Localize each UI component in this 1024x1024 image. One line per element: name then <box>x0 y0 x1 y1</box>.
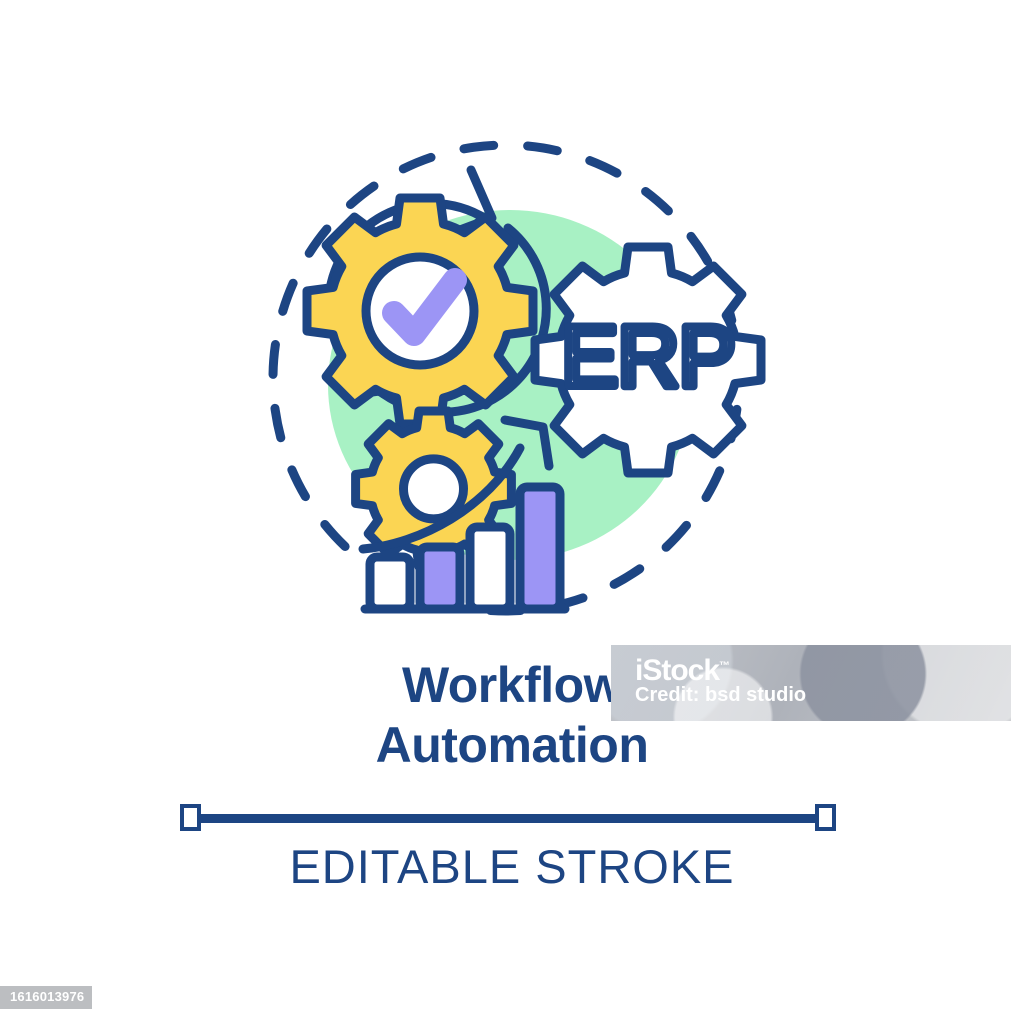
bar-chart <box>365 487 565 609</box>
check-gear <box>307 198 533 424</box>
istock-watermark: iStock™ Credit: bsd studio <box>611 645 1011 721</box>
editable-stroke-caption: EDITABLE STROKE <box>0 838 1024 896</box>
check-gear-hub <box>366 257 474 365</box>
small-gear-hub <box>404 459 464 519</box>
stroke-handle-left-icon[interactable] <box>180 804 201 831</box>
check-icon-outline <box>394 280 455 334</box>
page-title-line-2: Automation <box>0 715 1024 775</box>
check-icon <box>394 280 455 334</box>
bar-4 <box>520 487 560 609</box>
small-gear-body <box>356 411 512 567</box>
bar-2 <box>420 547 460 609</box>
stroke-handle-right-icon[interactable] <box>815 804 836 831</box>
watermark-credit: Credit: bsd studio <box>635 683 806 707</box>
refresh-arrow-loop <box>329 170 547 412</box>
editable-stroke-widget <box>180 800 844 838</box>
growth-arrow <box>363 420 549 549</box>
asset-id-badge: 1616013976 <box>0 986 92 1009</box>
trademark-icon: ™ <box>719 660 729 672</box>
bar-3 <box>470 527 510 609</box>
erp-gear: ERP <box>535 247 761 473</box>
dashed-circle <box>243 115 769 641</box>
screenshot-canvas: ERP Workflow Automation EDITABLE ST <box>0 0 1024 1024</box>
stroke-bar <box>198 814 826 823</box>
check-gear-body <box>307 198 533 424</box>
erp-gear-label: ERP <box>561 309 735 405</box>
mint-blob <box>328 210 692 560</box>
small-gear <box>356 411 512 567</box>
bar-1 <box>370 557 410 609</box>
erp-gear-body <box>535 247 761 473</box>
